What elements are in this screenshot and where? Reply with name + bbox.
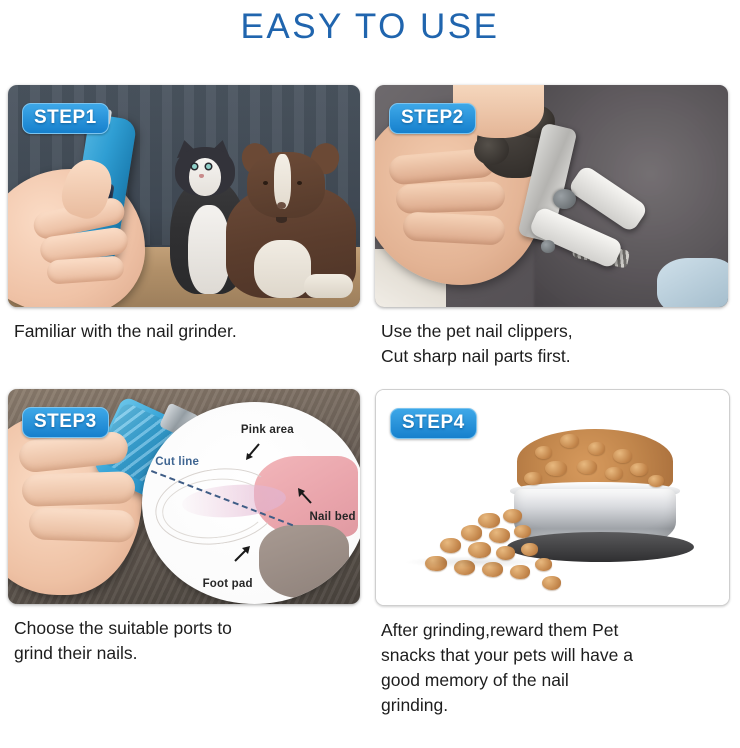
steps-row-1: STEP1 Familiar with the nail grinder. [0,78,740,369]
kibble-piece [560,434,579,448]
nail-anatomy-diagram: Pink area Cut line Nail bed Foot pad [142,402,360,604]
kibble-piece [535,446,553,459]
step-1-caption: Familiar with the nail grinder. [8,307,360,344]
step-2-badge: STEP2 [389,103,476,134]
dog-face-blaze [274,154,292,210]
step-3-caption: Choose the suitable ports to grind their… [8,604,360,666]
pink-area-arrow-icon [243,442,263,462]
paw-toe-3 [474,134,509,165]
kibble-piece-scattered [521,543,539,556]
step-3-badge: STEP3 [22,407,109,438]
step-3-caption-line-2: grind their nails. [14,641,356,666]
kibble-piece-scattered [542,576,561,590]
kibble-piece-scattered [440,538,461,553]
palm-finger-3 [403,211,507,245]
kibble-piece [613,449,632,463]
steps-grid: STEP1 Familiar with the nail grinder. [0,78,740,718]
dog-paw [304,274,353,298]
nail-bed-arrow-icon [295,487,315,507]
diagram-label-cut-line: Cut line [155,456,199,468]
kibble-piece [577,460,596,474]
dog-mouth [276,217,287,223]
step-4-caption-line-4: grinding. [381,693,724,718]
step-4-caption-line-3: good memory of the nail [381,668,724,693]
dog-nose [277,202,286,209]
kibble-piece-scattered [489,528,510,543]
clipper-lock-screw [541,240,555,252]
step-1-caption-line-1: Familiar with the nail grinder. [14,319,356,344]
finger-3 [29,508,136,544]
dog-eye-right [297,181,302,185]
kibble-piece-scattered [478,513,499,528]
step-3-caption-line-1: Choose the suitable ports to [14,616,356,641]
step-1-badge: STEP1 [22,103,109,134]
steps-row-2: Pink area Cut line Nail bed Foot pad [0,382,740,718]
step-2-image: STEP2 [375,85,728,307]
kibble-piece [524,472,542,485]
step-card-3: Pink area Cut line Nail bed Foot pad [0,382,370,718]
step-4-caption: After grinding,reward them Pet snacks th… [375,606,728,718]
kibble-piece [545,461,566,476]
kibble-piece [588,442,606,455]
step-4-badge: STEP4 [390,408,477,439]
step-2-caption-line-1: Use the pet nail clippers, [381,319,724,344]
cat-chest [188,205,230,294]
step-2-caption: Use the pet nail clippers, Cut sharp nai… [375,307,728,369]
step-card-1: STEP1 Familiar with the nail grinder. [0,78,370,369]
palm-finger-2 [396,181,506,214]
finger-2 [22,471,136,507]
step-3-image: Pink area Cut line Nail bed Foot pad [8,389,360,604]
step-1-image: STEP1 [8,85,360,307]
kibble-piece-scattered [461,525,482,540]
foot-pad-arrow-icon [232,544,252,564]
diagram-label-foot-pad: Foot pad [203,578,253,590]
dog-chest [254,240,310,298]
diagram-label-nail-bed: Nail bed [309,511,355,523]
diagram-label-pink-area: Pink area [241,424,294,436]
step-4-caption-line-2: snacks that your pets will have a [381,643,724,668]
shirt-sleeve [657,258,728,307]
kibble-shadow [404,556,545,569]
kibble-piece [648,475,664,487]
step-4-image: STEP4 [375,389,730,606]
page-title: EASY TO USE [0,0,740,48]
step-2-caption-line-2: Cut sharp nail parts first. [381,344,724,369]
step-card-2: STEP2 Use the pet nail clippers, Cut sha… [370,78,740,369]
foot-pad-region [259,525,349,598]
step-card-4: STEP4 After grinding,reward them Pet sna… [370,382,740,718]
kibble-piece [630,463,648,476]
step-4-caption-line-1: After grinding,reward them Pet [381,618,724,643]
